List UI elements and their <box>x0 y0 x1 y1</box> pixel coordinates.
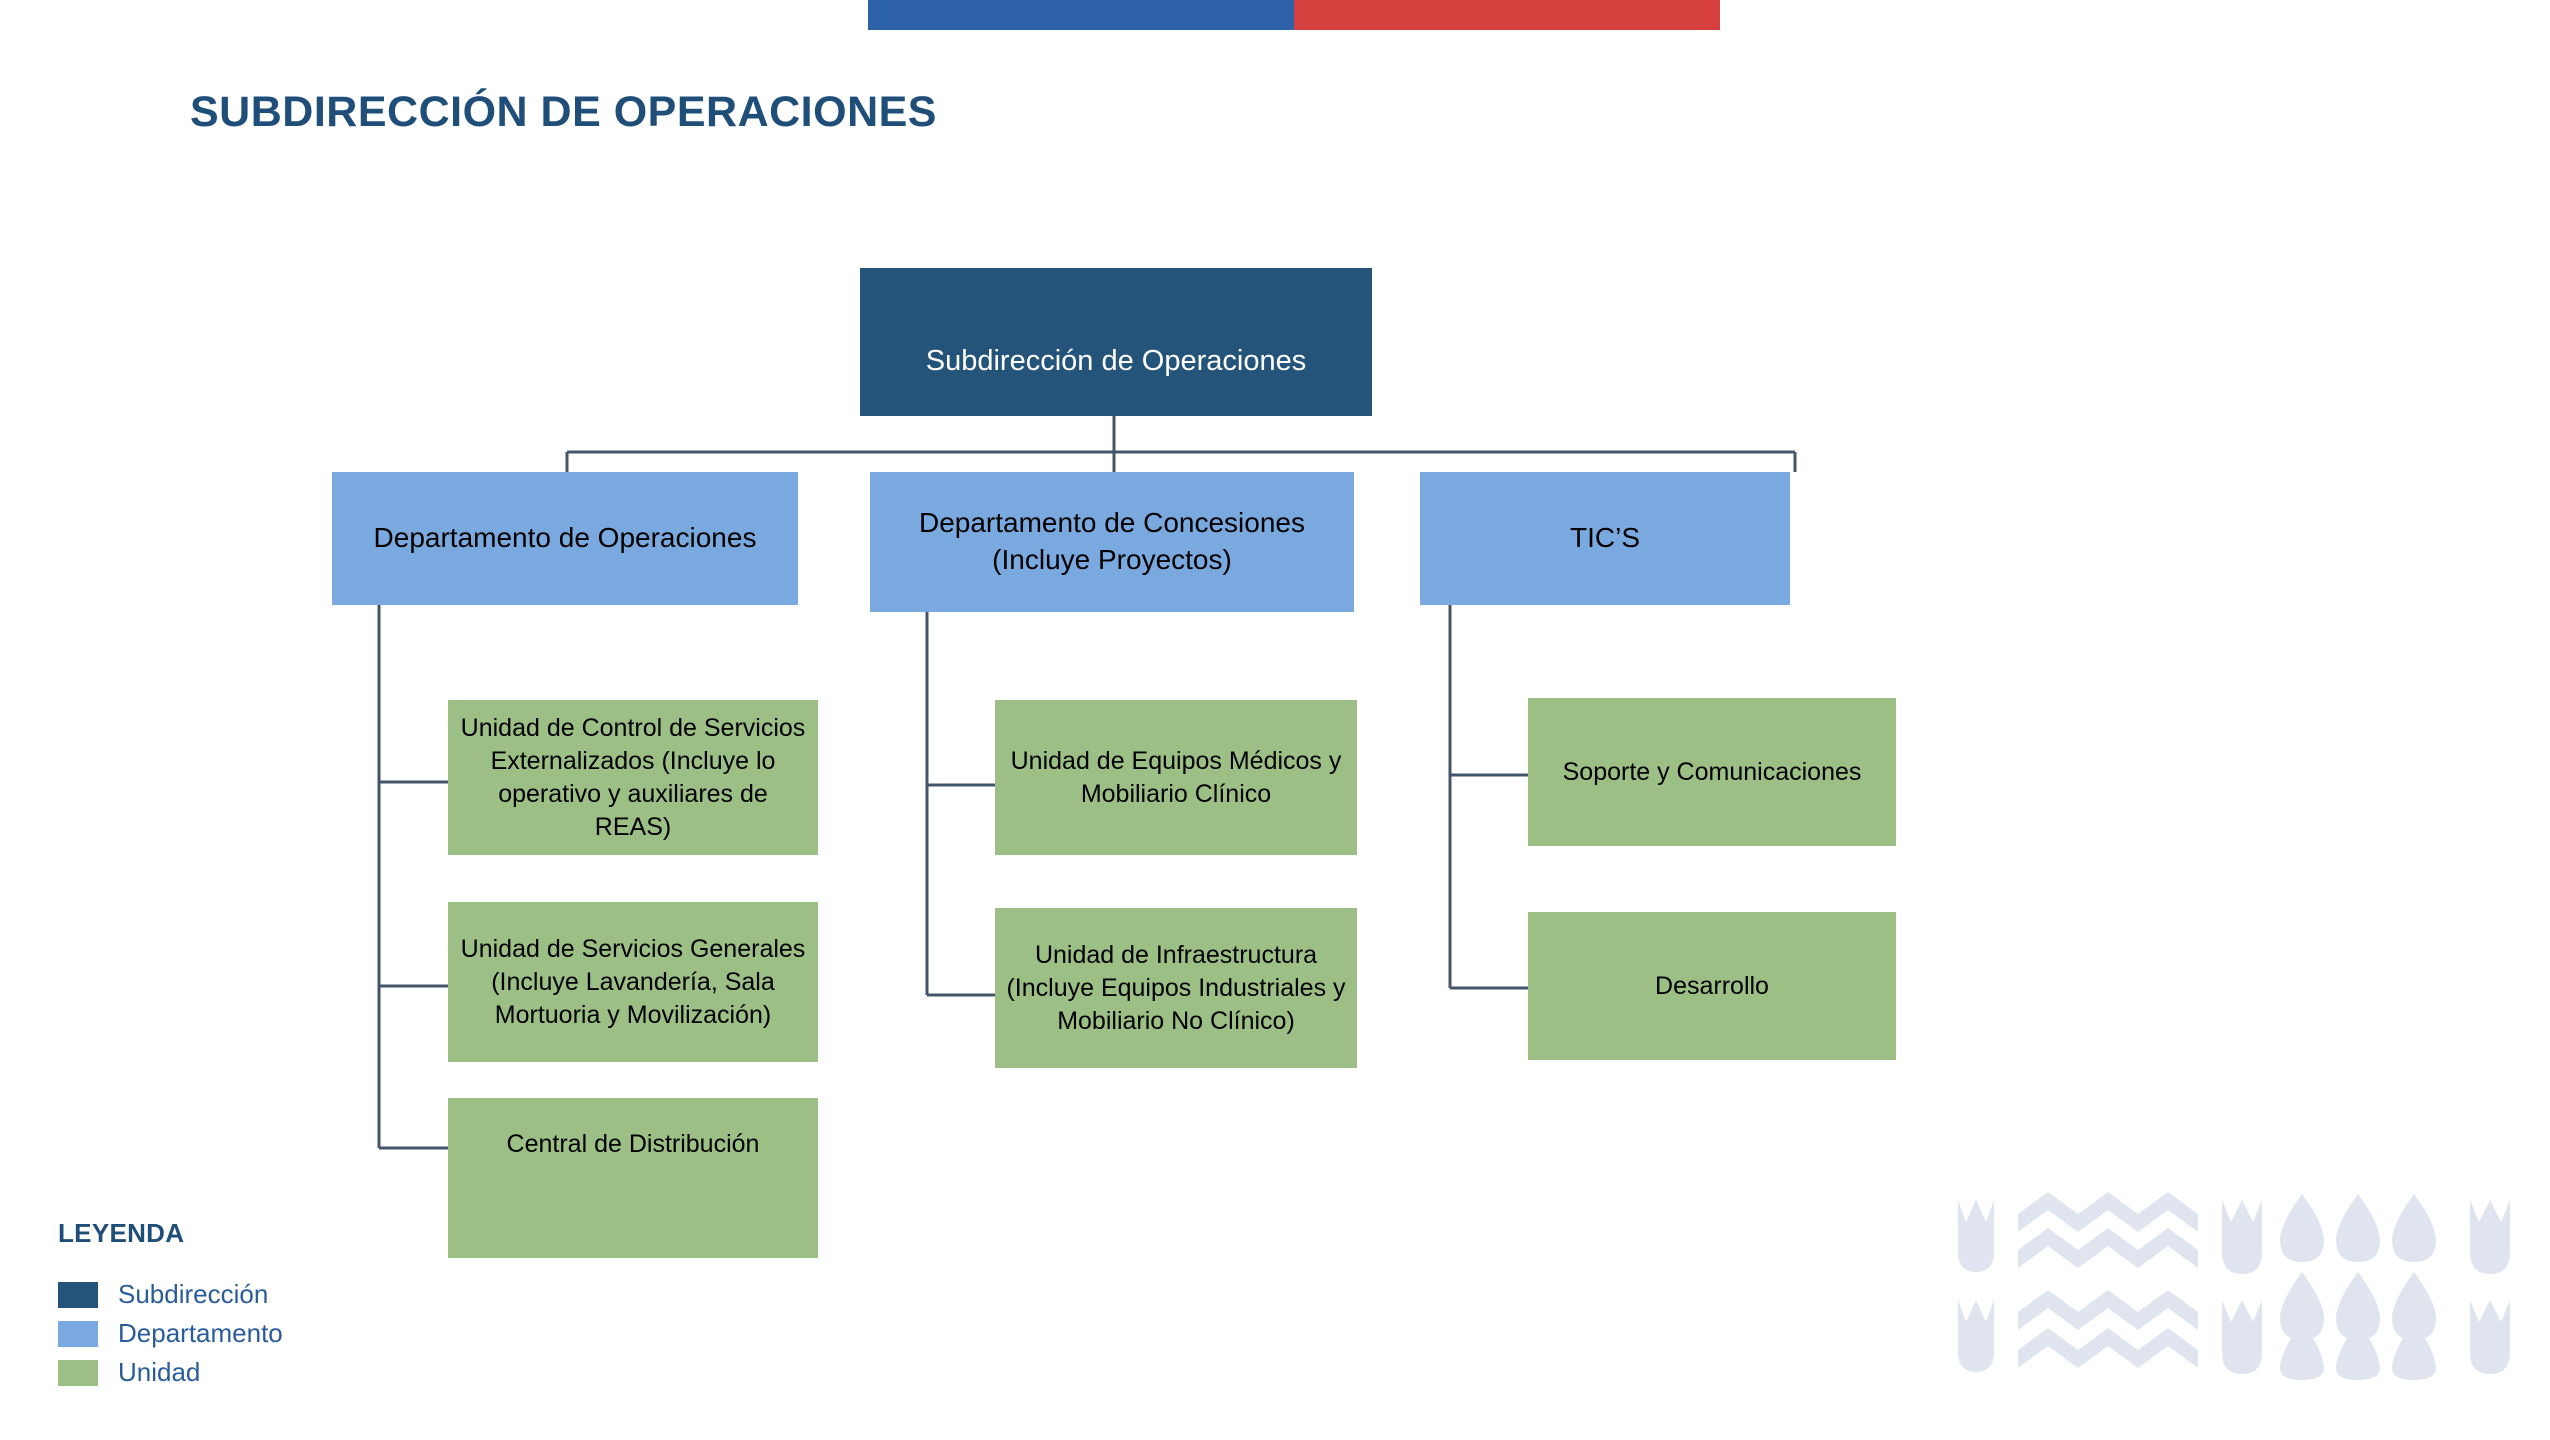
node-desarrollo[interactable]: Desarrollo <box>1528 912 1896 1060</box>
node-soporte-y-comunicaciones[interactable]: Soporte y Comunicaciones <box>1528 698 1896 846</box>
node-unidad-de-equipos-medicos[interactable]: Unidad de Equipos Médicos y Mobiliario C… <box>995 700 1357 855</box>
node-tics[interactable]: TIC’S <box>1420 472 1790 605</box>
node-label: Subdirección de Operaciones <box>926 342 1306 380</box>
node-departamento-de-concesiones[interactable]: Departamento de Concesiones (Incluye Pro… <box>870 472 1354 612</box>
node-subdireccion-de-operaciones[interactable]: Subdirección de Operaciones <box>860 268 1372 416</box>
node-departamento-de-operaciones[interactable]: Departamento de Operaciones <box>332 472 798 605</box>
node-label: Unidad de Equipos Médicos y Mobiliario C… <box>1005 745 1347 811</box>
node-label: Central de Distribución <box>507 1128 760 1161</box>
node-unidad-de-control-de-servicios-externalizados[interactable]: Unidad de Control de Servicios Externali… <box>448 700 818 855</box>
node-unidad-de-servicios-generales[interactable]: Unidad de Servicios Generales (Incluye L… <box>448 902 818 1062</box>
node-label: Departamento de Concesiones (Incluye Pro… <box>880 505 1344 579</box>
node-label: Soporte y Comunicaciones <box>1563 756 1862 789</box>
node-central-de-distribucion[interactable]: Central de Distribución <box>448 1098 818 1258</box>
node-label: Desarrollo <box>1655 970 1769 1003</box>
legend: LEYENDA Subdirección Departamento Unidad <box>58 1218 398 1392</box>
legend-swatch-subdireccion <box>58 1282 98 1308</box>
legend-swatch-unidad <box>58 1360 98 1386</box>
legend-item-unidad: Unidad <box>58 1353 398 1392</box>
node-label: TIC’S <box>1570 520 1640 557</box>
node-label: Unidad de Servicios Generales (Incluye L… <box>458 933 808 1032</box>
legend-item-departamento: Departamento <box>58 1314 398 1353</box>
legend-swatch-departamento <box>58 1321 98 1347</box>
legend-item-subdireccion: Subdirección <box>58 1275 398 1314</box>
node-unidad-de-infraestructura[interactable]: Unidad de Infraestructura (Incluye Equip… <box>995 908 1357 1068</box>
legend-label: Departamento <box>118 1318 283 1349</box>
legend-label: Subdirección <box>118 1279 268 1310</box>
legend-label: Unidad <box>118 1357 200 1388</box>
node-label: Departamento de Operaciones <box>374 520 757 557</box>
node-label: Unidad de Infraestructura (Incluye Equip… <box>1005 939 1347 1038</box>
node-label: Unidad de Control de Servicios Externali… <box>458 712 808 844</box>
legend-title: LEYENDA <box>58 1218 398 1249</box>
